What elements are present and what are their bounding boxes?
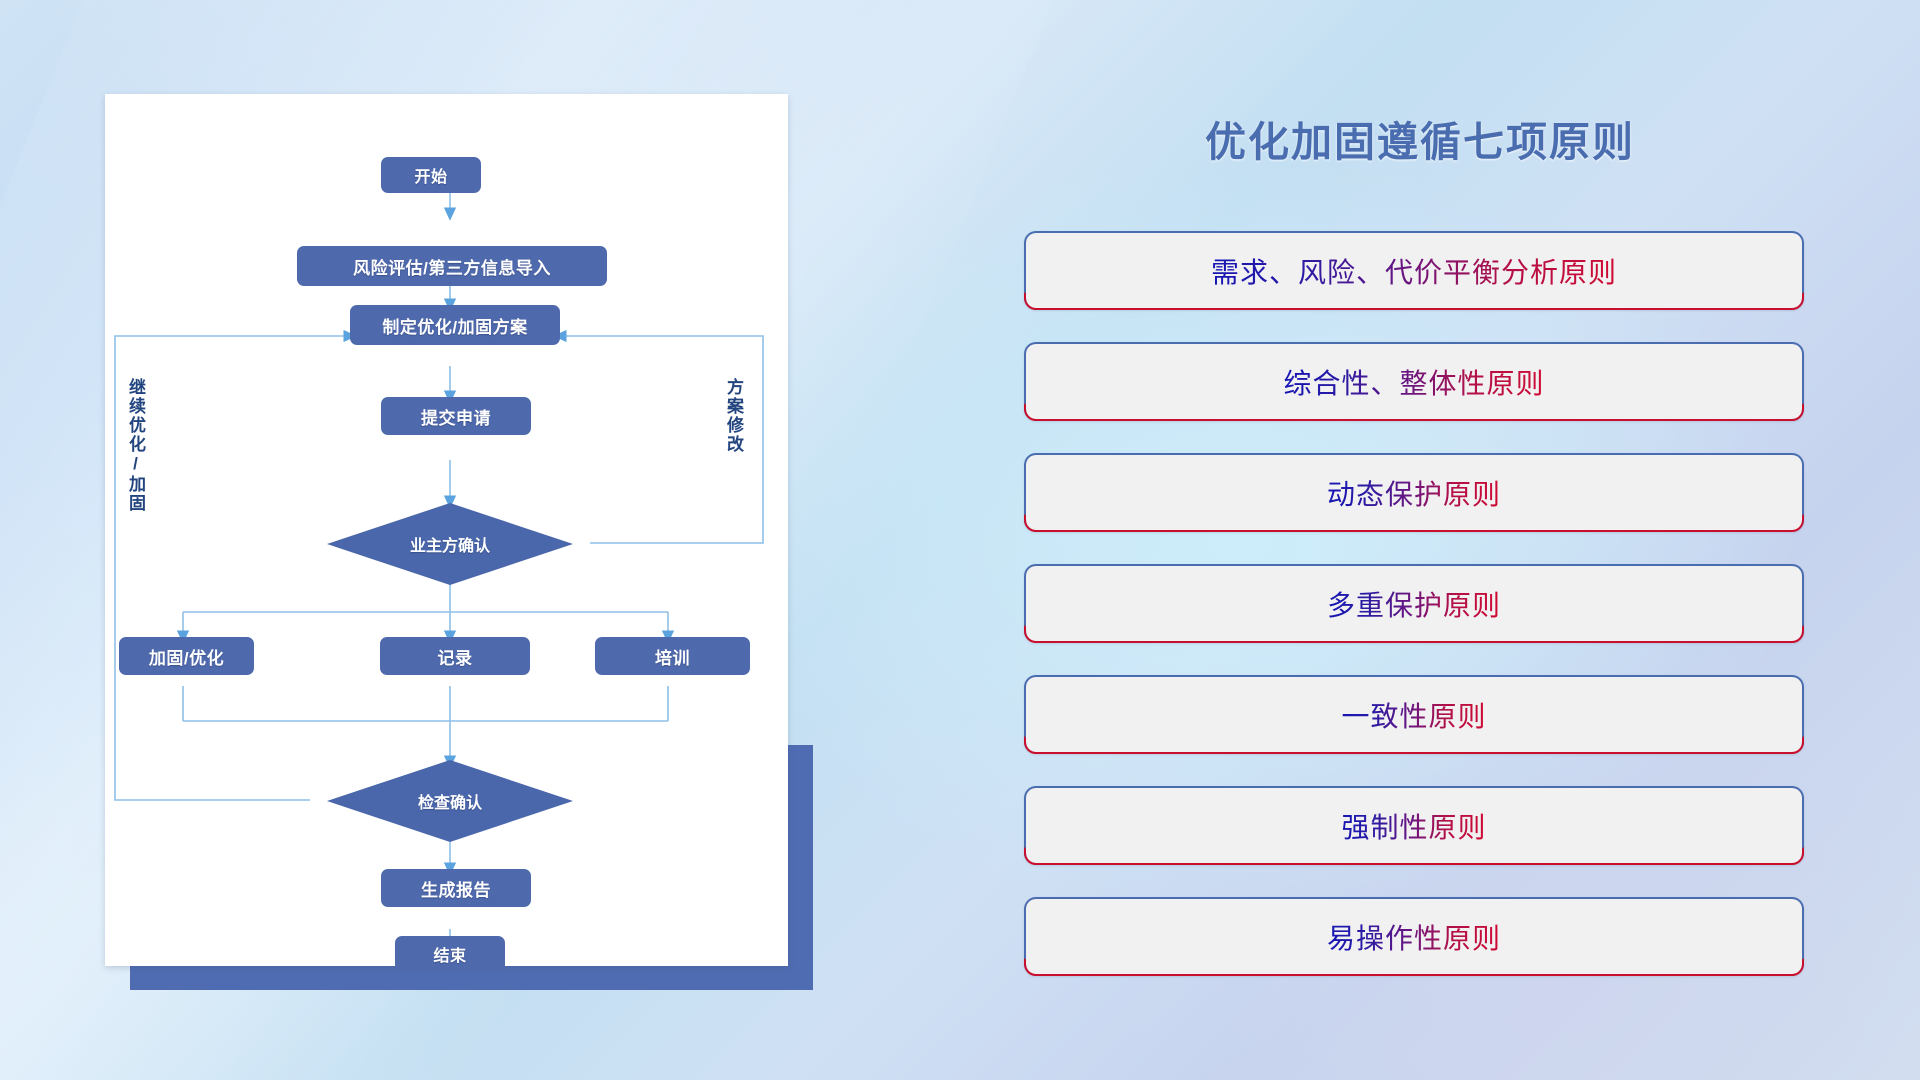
flow-node-start[interactable]: 开始: [381, 157, 481, 193]
flow-node-training-label: 培训: [655, 644, 690, 669]
flow-node-training[interactable]: 培训: [595, 637, 750, 675]
principle-item-2-label: 综合性、整体性原则: [1283, 362, 1544, 402]
principle-item-2[interactable]: 综合性、整体性原则: [1024, 342, 1804, 421]
flowchart-card: 开始 风险评估/第三方信息导入 制定优化/加固方案 提交申请 业主方确认 加固/…: [105, 94, 788, 966]
flow-node-plan[interactable]: 制定优化/加固方案: [350, 305, 560, 345]
principle-item-6-label: 强制性原则: [1341, 806, 1486, 846]
principle-item-7-label: 易操作性原则: [1327, 917, 1501, 957]
principle-item-3[interactable]: 动态保护原则: [1024, 453, 1804, 532]
flow-node-submit[interactable]: 提交申请: [381, 397, 531, 435]
flow-node-record[interactable]: 记录: [380, 637, 530, 675]
principle-item-6[interactable]: 强制性原则: [1024, 786, 1804, 865]
flow-node-end[interactable]: 结束: [395, 936, 505, 972]
flow-node-plan-label: 制定优化/加固方案: [382, 313, 527, 338]
flowchart: 开始 风险评估/第三方信息导入 制定优化/加固方案 提交申请 业主方确认 加固/…: [105, 94, 788, 966]
principle-item-4[interactable]: 多重保护原则: [1024, 564, 1804, 643]
principles-list: 需求、风险、代价平衡分析原则 综合性、整体性原则 动态保护原则 多重保护原则 一…: [1024, 231, 1804, 1008]
principle-item-3-label: 动态保护原则: [1327, 473, 1501, 513]
principle-item-4-label: 多重保护原则: [1327, 584, 1501, 624]
principle-item-5[interactable]: 一致性原则: [1024, 675, 1804, 754]
flow-node-report[interactable]: 生成报告: [381, 869, 531, 907]
flow-node-owner-confirm[interactable]: 业主方确认: [327, 503, 573, 585]
flow-node-check-confirm[interactable]: 检查确认: [327, 760, 573, 842]
flow-node-risk-assessment-label: 风险评估/第三方信息导入: [353, 254, 551, 279]
flow-node-reinforce-label: 加固/优化: [149, 644, 224, 669]
principles-title: 优化加固遵循七项原则: [1020, 108, 1820, 168]
edge-label-left-loop: 继续优化/加固: [127, 378, 144, 513]
flow-node-record-label: 记录: [438, 644, 473, 669]
flow-node-risk-assessment[interactable]: 风险评估/第三方信息导入: [297, 246, 607, 286]
flow-node-check-confirm-label: 检查确认: [418, 789, 482, 813]
principle-item-5-label: 一致性原则: [1341, 695, 1486, 735]
slide-root: 开始 风险评估/第三方信息导入 制定优化/加固方案 提交申请 业主方确认 加固/…: [0, 0, 1920, 1080]
principle-item-7[interactable]: 易操作性原则: [1024, 897, 1804, 976]
flow-node-submit-label: 提交申请: [421, 404, 491, 429]
flow-node-end-label: 结束: [433, 942, 466, 966]
flow-node-report-label: 生成报告: [421, 876, 491, 901]
principle-item-1[interactable]: 需求、风险、代价平衡分析原则: [1024, 231, 1804, 310]
principle-item-1-label: 需求、风险、代价平衡分析原则: [1211, 251, 1617, 291]
edge-label-right-loop: 方案修改: [725, 378, 742, 454]
flow-node-start-label: 开始: [414, 163, 447, 187]
flow-node-owner-confirm-label: 业主方确认: [410, 532, 490, 556]
flow-node-reinforce[interactable]: 加固/优化: [119, 637, 254, 675]
